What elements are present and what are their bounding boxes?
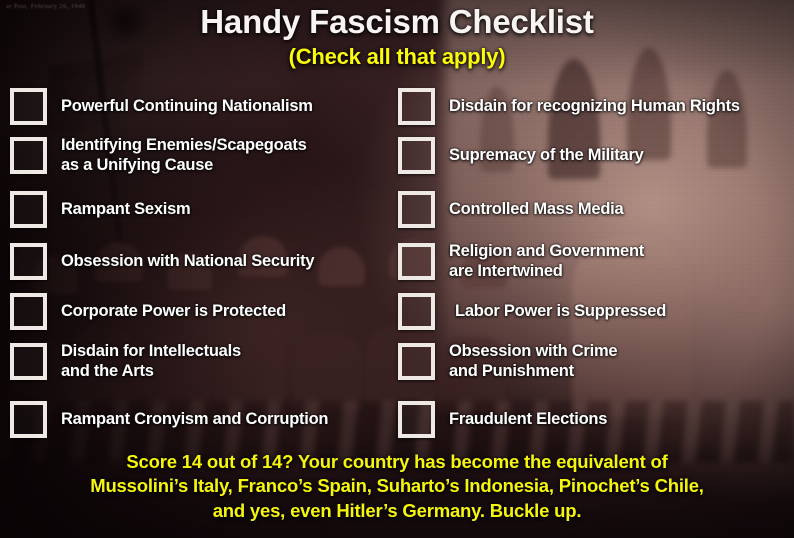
checklist-item-label: Religion and Governmentare Intertwined [449,242,644,280]
checklist-item-left-2[interactable]: Identifying Enemies/Scapegoatsas a Unify… [10,135,395,176]
checklist-item-label: Controlled Mass Media [449,200,623,219]
checklist-item-label: Disdain for Intellectualsand the Arts [61,342,241,380]
checklist-item-left-4[interactable]: Obsession with National Security [10,241,395,282]
checklist-item-right-7[interactable]: Fraudulent Elections [398,399,783,440]
checklist-item-label: Obsession with National Security [61,252,314,271]
footer-line-1: Score 14 out of 14? Your country has bec… [0,450,794,475]
checkbox-icon[interactable] [10,243,47,280]
fascism-checklist-poster: ar Post, February 26, 1940 Handy Fascism… [0,0,794,538]
checkbox-icon[interactable] [10,343,47,380]
checklist-item-right-5[interactable]: Labor Power is Suppressed [398,291,783,332]
checklist-item-label: Identifying Enemies/Scapegoatsas a Unify… [61,136,307,174]
checkbox-icon[interactable] [398,293,435,330]
checklist-item-label: Rampant Sexism [61,200,190,219]
checklist-item-left-5[interactable]: Corporate Power is Protected [10,291,395,332]
checklist-item-right-2[interactable]: Supremacy of the Military [398,135,783,176]
footer-line-3: and yes, even Hitler’s Germany. Buckle u… [0,499,794,524]
checklist-item-label: Fraudulent Elections [449,410,607,429]
checklist-item-label: Labor Power is Suppressed [455,302,666,321]
checkbox-icon[interactable] [10,191,47,228]
checklist-item-right-3[interactable]: Controlled Mass Media [398,189,783,230]
checklist-item-left-1[interactable]: Powerful Continuing Nationalism [10,86,395,127]
checkbox-icon[interactable] [10,401,47,438]
checkbox-icon[interactable] [398,88,435,125]
checkbox-icon[interactable] [10,293,47,330]
checklist-item-label: Rampant Cronyism and Corruption [61,410,328,429]
checklist-item-right-4[interactable]: Religion and Governmentare Intertwined [398,241,783,282]
checklist-columns: Powerful Continuing NationalismIdentifyi… [0,86,794,444]
checklist-item-label: Supremacy of the Military [449,146,644,165]
checkbox-icon[interactable] [10,88,47,125]
checkbox-icon[interactable] [398,191,435,228]
checklist-item-left-7[interactable]: Rampant Cronyism and Corruption [10,399,395,440]
checklist-item-left-6[interactable]: Disdain for Intellectualsand the Arts [10,341,395,382]
checklist-item-left-3[interactable]: Rampant Sexism [10,189,395,230]
checklist-item-label: Disdain for recognizing Human Rights [449,97,740,116]
poster-content: Handy Fascism Checklist (Check all that … [0,0,794,538]
page-subtitle: (Check all that apply) [0,44,794,70]
checkbox-icon[interactable] [398,243,435,280]
checklist-item-label: Obsession with Crimeand Punishment [449,342,617,380]
footer-verdict: Score 14 out of 14? Your country has bec… [0,450,794,524]
checklist-column-right: Disdain for recognizing Human RightsSupr… [397,86,794,444]
page-title: Handy Fascism Checklist [0,3,794,41]
checklist-item-label: Powerful Continuing Nationalism [61,97,313,116]
checklist-item-right-6[interactable]: Obsession with Crimeand Punishment [398,341,783,382]
footer-line-2: Mussolini’s Italy, Franco’s Spain, Suhar… [0,474,794,499]
checkbox-icon[interactable] [398,343,435,380]
checkbox-icon[interactable] [398,137,435,174]
checkbox-icon[interactable] [398,401,435,438]
checklist-column-left: Powerful Continuing NationalismIdentifyi… [0,86,397,444]
checkbox-icon[interactable] [10,137,47,174]
checklist-item-label: Corporate Power is Protected [61,302,286,321]
checklist-item-right-1[interactable]: Disdain for recognizing Human Rights [398,86,783,127]
